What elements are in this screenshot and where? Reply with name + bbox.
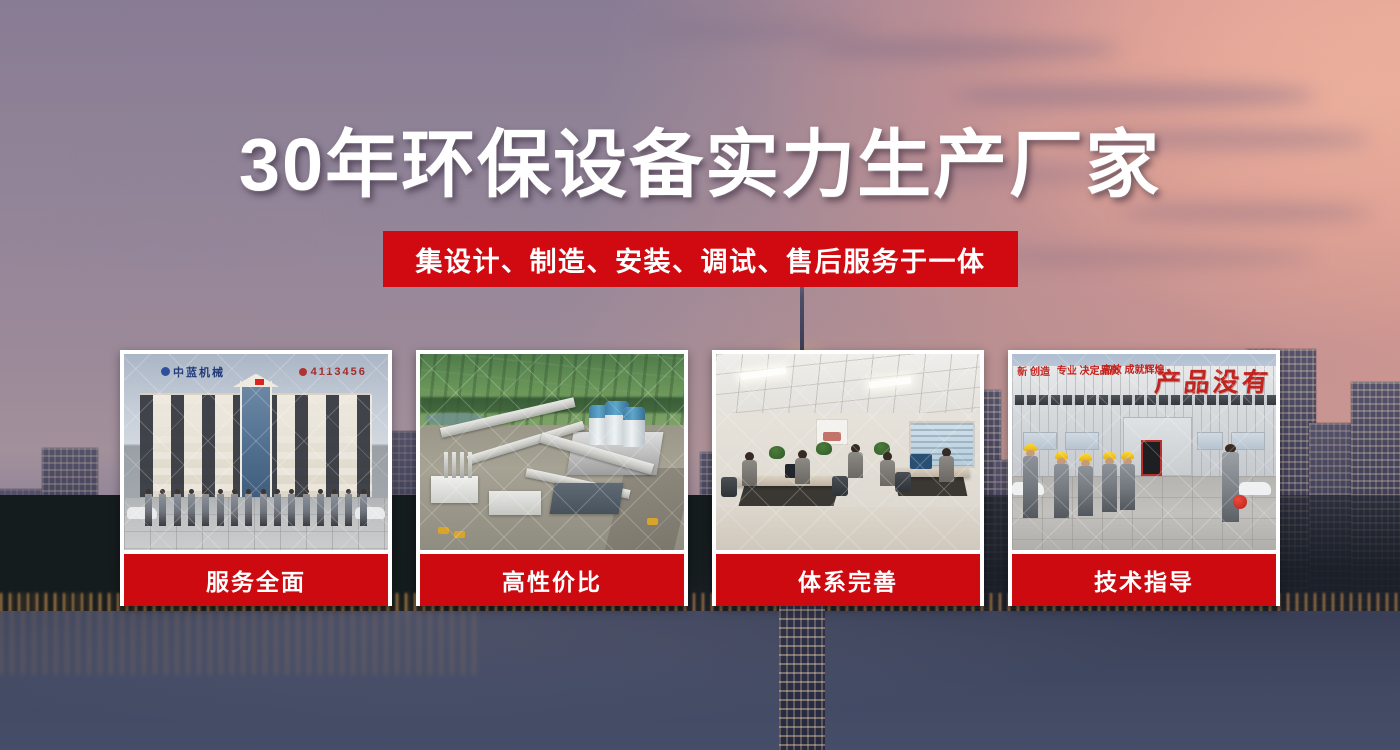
promo-banner: 30年环保设备实力生产厂家 集设计、制造、安装、调试、售后服务于一体 中蓝机械 … xyxy=(0,0,1400,750)
building-phone: 4113456 xyxy=(299,364,367,380)
factory-slogan-main: 产品没有 xyxy=(1153,362,1273,399)
card-caption-bar: 技术指导 xyxy=(1012,554,1276,606)
card-caption-text: 服务全面 xyxy=(206,563,306,597)
card-caption-bar: 服务全面 xyxy=(124,554,388,606)
subtitle-text: 集设计、制造、安装、调试、售后服务于一体 xyxy=(416,240,986,279)
feature-card[interactable]: 高性价比 xyxy=(416,350,688,606)
wall-poster xyxy=(816,419,848,445)
feature-card[interactable]: 体系完善 xyxy=(712,350,984,606)
building-sign-text: 中蓝机械 xyxy=(173,364,225,380)
page-title: 30年环保设备实力生产厂家 xyxy=(0,128,1400,202)
company-logo-icon xyxy=(161,367,170,376)
supervisor-figure xyxy=(1222,444,1239,522)
factory-slogan-1: 新 创造 xyxy=(1017,367,1050,379)
card-photo-factory-workers: 产品没有 新 创造 专业 决定品质 高效 成就辉煌 xyxy=(1012,354,1276,550)
red-helmet-icon xyxy=(1233,495,1247,509)
feature-card[interactable]: 产品没有 新 创造 专业 决定品质 高效 成就辉煌 xyxy=(1008,350,1280,606)
card-caption-bar: 高性价比 xyxy=(420,554,684,606)
factory-slogan-3: 高效 成就辉煌 xyxy=(1102,365,1165,377)
card-caption-text: 技术指导 xyxy=(1094,563,1194,597)
feature-card[interactable]: 中蓝机械 4113456 xyxy=(120,350,392,606)
card-photo-industrial-plant xyxy=(420,354,684,550)
card-caption-text: 体系完善 xyxy=(798,563,898,597)
factory-wall-slogans: 产品没有 新 创造 专业 决定品质 高效 成就辉煌 xyxy=(1012,362,1276,393)
building-sign: 中蓝机械 xyxy=(161,364,251,380)
card-caption-text: 高性价比 xyxy=(502,563,602,597)
subtitle-banner: 集设计、制造、安装、调试、售后服务于一体 xyxy=(383,231,1018,287)
card-photo-headquarters: 中蓝机械 4113456 xyxy=(124,354,388,550)
card-photo-office-interior xyxy=(716,354,980,550)
building-phone-text: 4113456 xyxy=(311,366,367,378)
phone-icon xyxy=(299,368,307,376)
feature-card-list: 中蓝机械 4113456 xyxy=(120,350,1280,606)
card-caption-bar: 体系完善 xyxy=(716,554,980,606)
